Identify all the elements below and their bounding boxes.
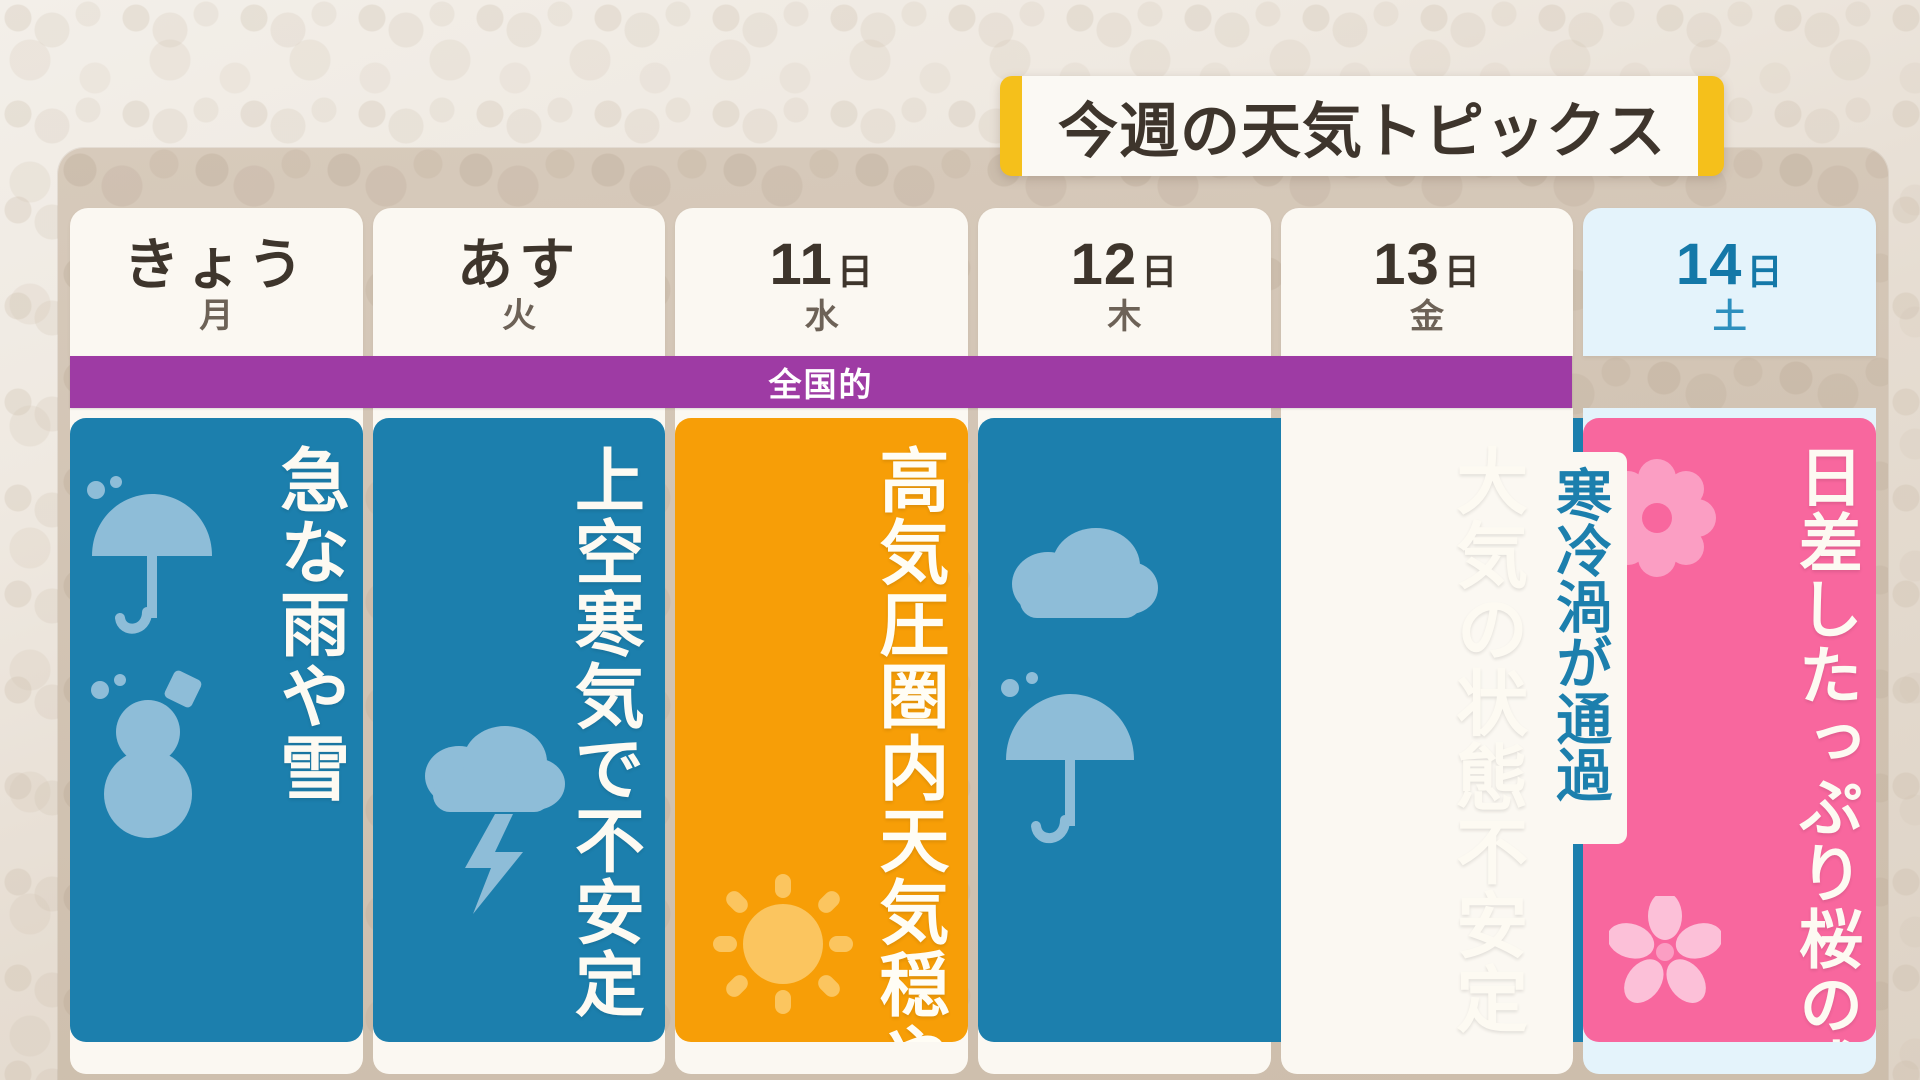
date-main-saturday: 14日 — [1676, 236, 1784, 294]
date-card-tuesday[interactable]: あす 火 — [373, 208, 666, 356]
dow-label-thursday: 木 — [1107, 300, 1141, 334]
forecast-grid: きょう 月 — [70, 208, 1876, 1074]
title-accent-right — [1698, 76, 1724, 176]
sun-icon — [709, 870, 857, 1018]
content-card-wednesday[interactable]: 高気圧圏内天気穏やか — [675, 418, 968, 1042]
note-box-cold-vortex: 寒冷渦が通過 — [1533, 452, 1627, 844]
dow-label-tuesday: 火 — [502, 299, 536, 333]
cloud-icon — [1000, 522, 1160, 632]
headline-monday: 急な雨や雪 — [273, 444, 344, 804]
forecast-column-friday: 13日 金 — [1281, 208, 1574, 1074]
date-main-friday: 13日 — [1373, 236, 1481, 294]
date-suffix-thursday: 日 — [1141, 254, 1178, 290]
date-number-thursday: 12 — [1071, 236, 1138, 294]
headline-tuesday: 上空寒気で不安定 — [568, 444, 639, 1020]
forecast-column-wednesday: 11日 水 — [675, 208, 968, 1074]
date-label-tuesday: あす — [457, 237, 581, 293]
date-label-monday: きょう — [123, 237, 309, 293]
thundercloud-icon — [407, 718, 577, 918]
forecast-column-monday: きょう 月 — [70, 208, 363, 1074]
forecast-column-thursday: 12日 木 — [978, 208, 1271, 1074]
headline-thursday: 大気の状態不安定 — [1447, 444, 1520, 1036]
umbrella-icon — [74, 472, 224, 652]
forecast-column-saturday: 14日 土 — [1583, 208, 1876, 1074]
snowman-icon — [82, 668, 232, 843]
column-backing-friday — [1281, 408, 1574, 1074]
content-card-monday[interactable]: 急な雨や雪 — [70, 418, 363, 1042]
dow-label-saturday: 土 — [1713, 300, 1747, 334]
date-main-thursday: 12日 — [1071, 236, 1179, 294]
card-slot-monday: 急な雨や雪 — [70, 408, 363, 1074]
date-number-friday: 13 — [1373, 236, 1440, 294]
sakura-icon — [1609, 896, 1721, 1008]
title-banner: 今週の天気トピックス — [1000, 76, 1724, 176]
forecast-column-tuesday: あす 火 上空寒気で不安定 — [373, 208, 666, 1074]
headline-saturday: 日差したっぷり桜の成長進む — [1793, 444, 1858, 1042]
date-card-saturday[interactable]: 14日 土 — [1583, 208, 1876, 356]
date-suffix-friday: 日 — [1444, 254, 1481, 290]
headline-wednesday: 高気圧圏内天気穏やか — [873, 444, 944, 1042]
date-suffix-wednesday: 日 — [837, 254, 874, 290]
dow-label-wednesday: 水 — [805, 300, 839, 334]
title-plate: 今週の天気トピックス — [1022, 76, 1702, 176]
card-slot-friday — [1281, 408, 1574, 1074]
card-slot-wednesday: 高気圧圏内天気穏やか — [675, 408, 968, 1074]
umbrella-icon — [988, 668, 1148, 858]
date-main-wednesday: 11日 — [770, 236, 874, 294]
date-card-wednesday[interactable]: 11日 水 — [675, 208, 968, 356]
note-text-cold-vortex: 寒冷渦が通過 — [1552, 466, 1608, 802]
page-title: 今週の天気トピックス — [1058, 83, 1666, 170]
content-card-saturday[interactable]: 日差したっぷり桜の成長進む — [1583, 418, 1876, 1042]
date-suffix-saturday: 日 — [1746, 254, 1783, 290]
date-card-monday[interactable]: きょう 月 — [70, 208, 363, 356]
dow-label-friday: 金 — [1410, 300, 1444, 334]
date-number-wednesday: 11 — [770, 236, 833, 294]
content-card-tuesday[interactable]: 上空寒気で不安定 — [373, 418, 666, 1042]
card-slot-thursday: 大気の状態不安定 寒冷渦が通過 — [978, 408, 1271, 1074]
date-number-saturday: 14 — [1676, 236, 1743, 294]
card-slot-saturday: 日差したっぷり桜の成長進む — [1583, 408, 1876, 1074]
date-card-friday[interactable]: 13日 金 — [1281, 208, 1574, 356]
date-card-thursday[interactable]: 12日 木 — [978, 208, 1271, 356]
dow-label-monday: 月 — [199, 299, 233, 333]
card-slot-tuesday: 上空寒気で不安定 — [373, 408, 666, 1074]
